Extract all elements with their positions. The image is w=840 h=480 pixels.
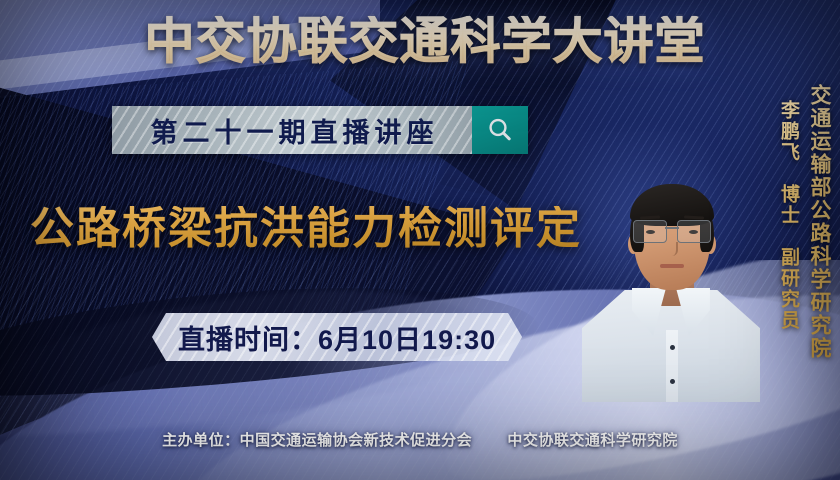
organizer-footer: 主办单位：中国交通运输协会新技术促进分会 中交协联交通科学研究院 bbox=[0, 429, 840, 450]
speaker-nose bbox=[668, 242, 678, 256]
lecture-topic-title: 公路桥梁抗洪能力检测评定 bbox=[30, 206, 582, 252]
organizer-primary: 主办单位：中国交通运输协会新技术促进分会 bbox=[162, 432, 472, 449]
episode-label: 第二十一期直播讲座 bbox=[146, 111, 439, 150]
search-button[interactable] bbox=[472, 106, 528, 154]
speaker-name-title: 李鹏飞 博士 副研究员 bbox=[775, 100, 802, 331]
page-title: 中交协联交通科学大讲堂 bbox=[0, 16, 840, 66]
speaker-shirt-placket bbox=[666, 330, 678, 402]
speaker-shirt-button bbox=[670, 345, 675, 350]
speaker-shirt-button bbox=[670, 379, 675, 384]
glasses-icon bbox=[631, 220, 713, 242]
speaker-institute: 交通运输部公路科学研究院 bbox=[804, 84, 834, 360]
search-icon bbox=[485, 115, 515, 145]
glasses-lens-left bbox=[633, 220, 667, 243]
live-time-text: 直播时间：6月10日19:30 bbox=[178, 318, 496, 357]
speaker-portrait bbox=[598, 150, 744, 402]
speaker-mouth bbox=[660, 264, 684, 268]
glasses-bridge bbox=[665, 227, 679, 229]
organizer-secondary: 中交协联交通科学研究院 bbox=[507, 432, 678, 449]
live-lecture-poster: 中交协联交通科学大讲堂 第二十一期直播讲座 公路桥梁抗洪能力检测评定 直播时间：… bbox=[0, 0, 840, 480]
live-time-badge: 直播时间：6月10日19:30 bbox=[152, 313, 522, 361]
episode-search-bar[interactable]: 第二十一期直播讲座 bbox=[112, 106, 528, 154]
episode-field[interactable]: 第二十一期直播讲座 bbox=[112, 106, 472, 154]
glasses-lens-right bbox=[677, 220, 711, 243]
